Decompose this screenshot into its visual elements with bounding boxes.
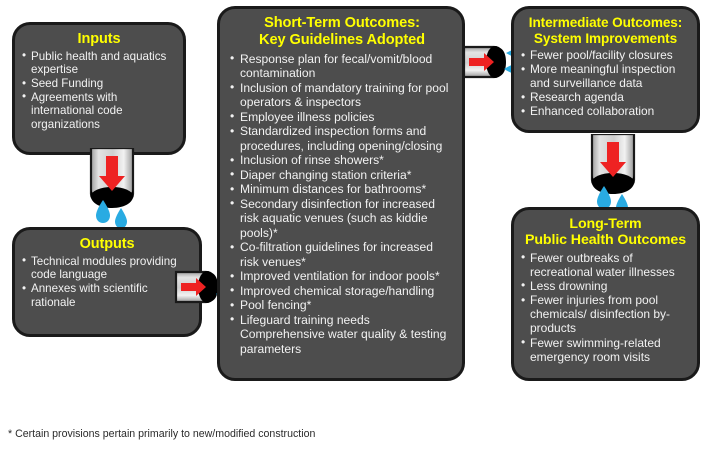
node-long-term-title-line2: Public Health Outcomes: [521, 232, 690, 248]
list-item: Public health and aquatics expertise: [22, 50, 176, 77]
list-item: Co-filtration guidelines for increased r…: [230, 240, 454, 269]
list-item: Seed Funding: [22, 77, 176, 91]
list-item: Response plan for fecal/vomit/blood cont…: [230, 52, 454, 81]
list-item: Diaper changing station criteria*: [230, 168, 454, 183]
node-intermediate-outcomes[interactable]: Intermediate Outcomes: System Improvemen…: [511, 6, 700, 133]
node-inputs[interactable]: Inputs Public health and aquatics expert…: [12, 22, 186, 155]
list-item: Fewer pool/facility closures: [521, 48, 690, 62]
node-intermediate-list: Fewer pool/facility closures More meanin…: [521, 48, 690, 118]
logic-model-diagram: Inputs Public health and aquatics expert…: [0, 0, 711, 461]
list-item: Minimum distances for bathrooms*: [230, 182, 454, 197]
node-long-term-title-line1: Long-Term: [521, 216, 690, 232]
node-long-term-outcomes[interactable]: Long-Term Public Health Outcomes Fewer o…: [511, 207, 700, 381]
node-intermediate-title-line2: System Improvements: [521, 31, 690, 47]
list-item: Fewer outbreaks of recreational water il…: [521, 251, 690, 279]
node-intermediate-title-line1: Intermediate Outcomes:: [521, 15, 690, 31]
list-item: Research agenda: [521, 90, 690, 104]
list-item: Enhanced collaboration: [521, 104, 690, 118]
list-item: Employee illness policies: [230, 110, 454, 125]
node-short-term-title: Short-Term Outcomes: Key Guidelines Adop…: [230, 15, 454, 49]
list-item: Less drowning: [521, 279, 690, 293]
connector-inputs-to-outputs: [79, 148, 151, 230]
node-inputs-title: Inputs: [22, 31, 176, 48]
list-item: Improved chemical storage/handling: [230, 284, 454, 299]
list-item: Fewer swimming-related emergency room vi…: [521, 336, 690, 364]
node-short-term-list: Response plan for fecal/vomit/blood cont…: [230, 52, 454, 357]
list-item: Standardized inspection forms and proced…: [230, 124, 454, 153]
node-intermediate-title: Intermediate Outcomes: System Improvemen…: [521, 15, 690, 46]
list-item: Improved ventilation for indoor pools*: [230, 269, 454, 284]
list-item: Agreements with international code organ…: [22, 91, 176, 132]
connector-intermediate-to-long-term: [580, 134, 652, 216]
node-long-term-title: Long-Term Public Health Outcomes: [521, 216, 690, 249]
list-item: Pool fencing*: [230, 298, 454, 313]
node-inputs-list: Public health and aquatics expertise See…: [22, 50, 176, 132]
list-item: Inclusion of mandatory training for pool…: [230, 81, 454, 110]
node-outputs-list: Technical modules providing code languag…: [22, 255, 192, 310]
footnote: * Certain provisions pertain primarily t…: [8, 428, 315, 440]
list-item-continuation: Comprehensive water quality & testing pa…: [230, 327, 454, 356]
list-item: Lifeguard training needs: [230, 313, 454, 328]
node-long-term-list: Fewer outbreaks of recreational water il…: [521, 251, 690, 364]
node-short-term-title-line1: Short-Term Outcomes:: [230, 15, 454, 32]
list-item: Fewer injuries from pool chemicals/ disi…: [521, 293, 690, 335]
list-item: Secondary disinfection for increased ris…: [230, 197, 454, 241]
node-outputs-title: Outputs: [22, 236, 192, 253]
node-short-term-title-line2: Key Guidelines Adopted: [230, 32, 454, 49]
list-item: Annexes with scientific rationale: [22, 282, 192, 309]
list-item: Inclusion of rinse showers*: [230, 153, 454, 168]
node-short-term-outcomes[interactable]: Short-Term Outcomes: Key Guidelines Adop…: [217, 6, 465, 381]
list-item: More meaningful inspection and surveilla…: [521, 62, 690, 90]
list-item: Technical modules providing code languag…: [22, 255, 192, 282]
